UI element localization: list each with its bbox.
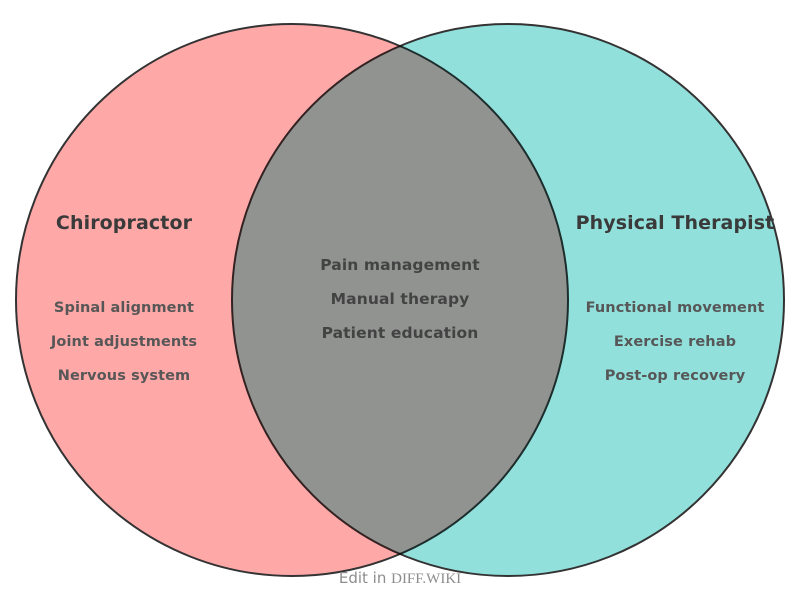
left-set-item: Nervous system [14, 359, 234, 393]
edit-credit-link[interactable]: Edit in DIFF.WIKI [0, 569, 800, 588]
overlap-set-item-list: Pain management Manual therapy Patient e… [290, 248, 510, 350]
credit-prefix-label: Edit in [339, 569, 391, 587]
left-set-item: Spinal alignment [14, 291, 234, 325]
overlap-set-item: Patient education [290, 316, 510, 350]
overlap-set-item: Manual therapy [290, 282, 510, 316]
right-set-item: Post-op recovery [565, 359, 785, 393]
venn-text-layer: Chiropractor Spinal alignment Joint adju… [0, 0, 800, 600]
left-set-item-list: Spinal alignment Joint adjustments Nervo… [14, 291, 234, 393]
right-set-title: Physical Therapist [565, 212, 785, 234]
credit-brand-label: DIFF.WIKI [391, 571, 461, 587]
right-set-item-list: Functional movement Exercise rehab Post-… [565, 291, 785, 393]
left-set-header: Chiropractor [14, 212, 234, 234]
venn-diagram-canvas: Chiropractor Spinal alignment Joint adju… [0, 0, 800, 600]
left-set-item: Joint adjustments [14, 325, 234, 359]
right-set-header: Physical Therapist [565, 212, 785, 234]
left-set-title: Chiropractor [14, 212, 234, 234]
right-set-item: Exercise rehab [565, 325, 785, 359]
right-set-item: Functional movement [565, 291, 785, 325]
overlap-set-item: Pain management [290, 248, 510, 282]
